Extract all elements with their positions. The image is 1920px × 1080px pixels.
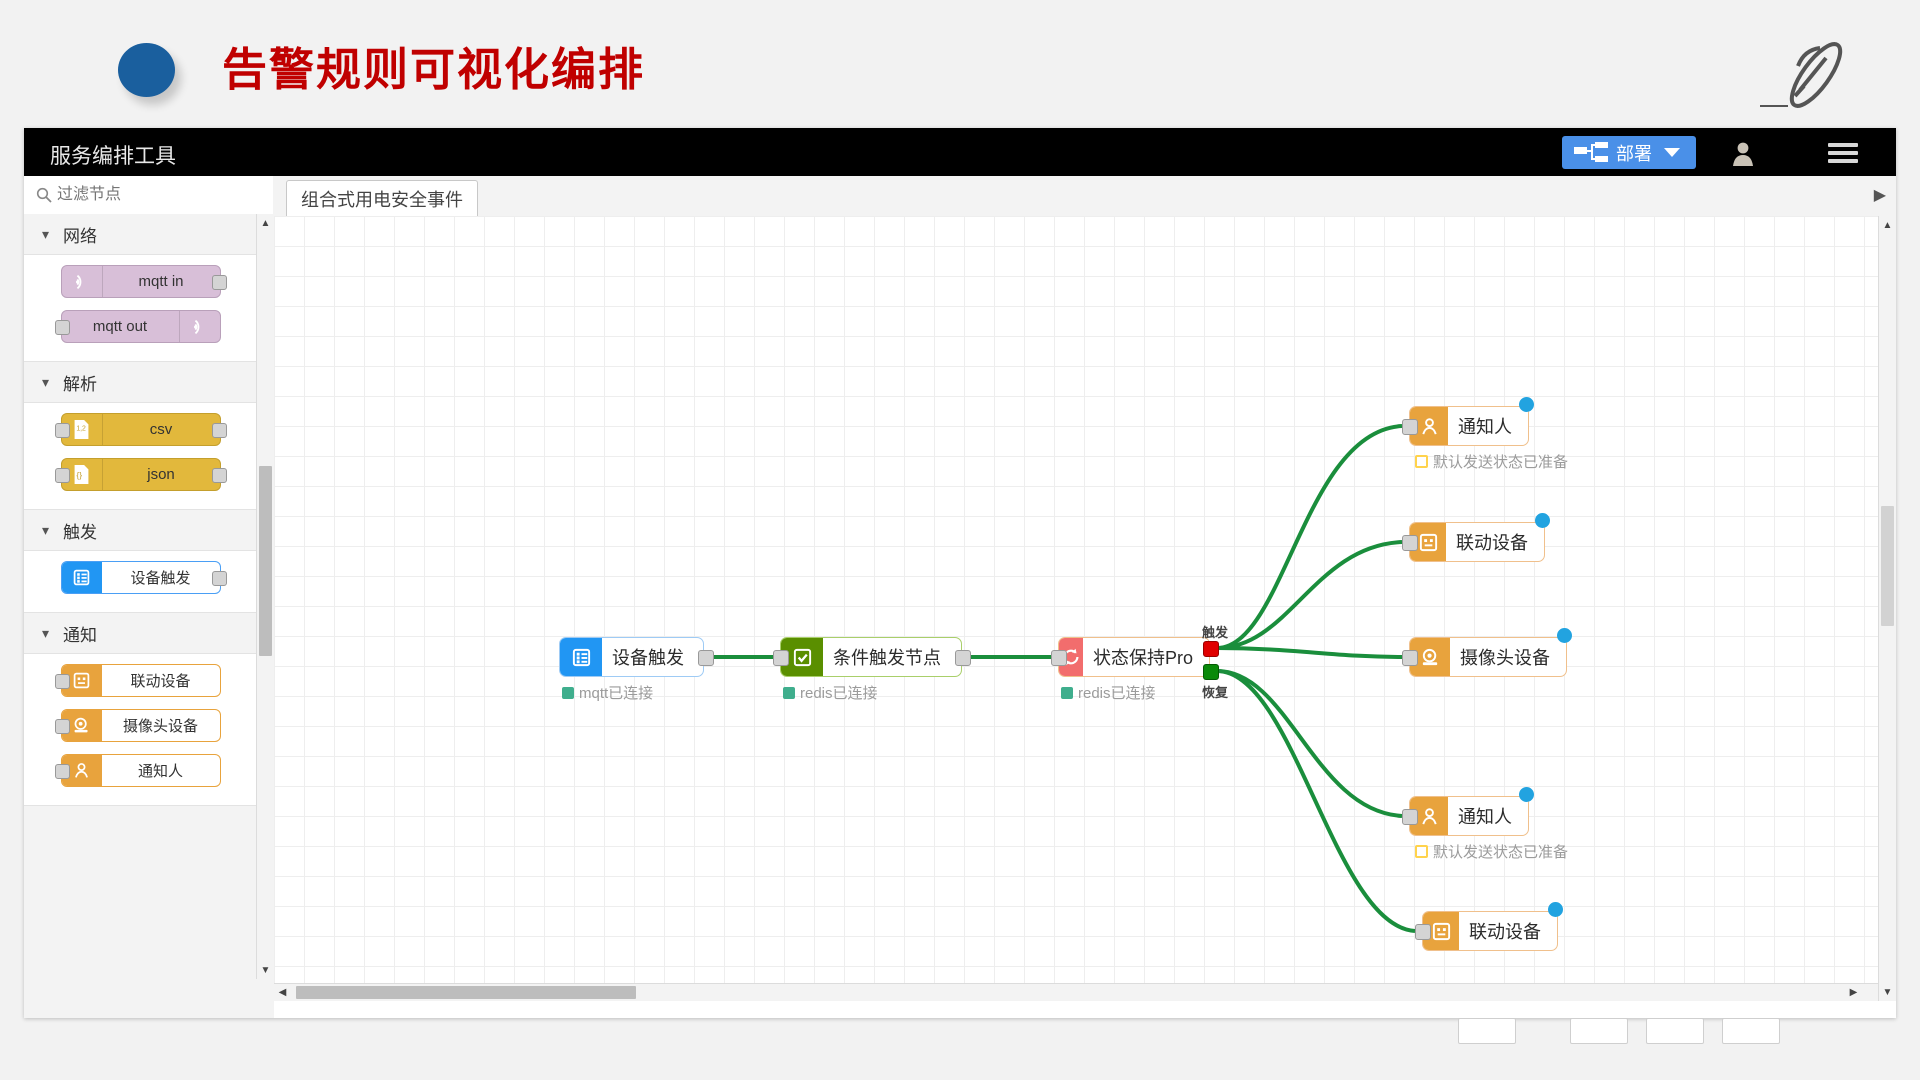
node-status-notify-person-1: 默认发送状态已准备 [1415, 451, 1568, 472]
palette-category-parse[interactable]: ▾ 解析 [24, 362, 257, 402]
palette-sidebar: ▾ 网络 mqtt in mqt [24, 176, 275, 1018]
flow-node-label: 通知人 [1448, 803, 1528, 829]
node-input-port[interactable] [1051, 650, 1067, 666]
status-dot [562, 687, 574, 699]
palette-category-notify-body: 联动设备 摄像头设备 [24, 653, 257, 806]
flow-node-label: 摄像头设备 [1450, 644, 1566, 670]
node-input-port[interactable] [1415, 924, 1431, 940]
workspace: 组合式用电安全事件 ▶ [274, 176, 1896, 1018]
canvas-vertical-scrollbar[interactable]: ▲ ▼ [1878, 216, 1896, 1001]
scroll-up-icon[interactable]: ▲ [1879, 216, 1896, 234]
flow-node-condition-trigger[interactable]: 条件触发节点 [780, 637, 962, 677]
flow-node-state-keeper-pro[interactable]: 状态保持Pro [1058, 637, 1210, 677]
flow-node-notify-person-1[interactable]: 通知人 [1409, 406, 1529, 446]
node-input-port[interactable] [55, 719, 70, 734]
node-status-device-trigger: mqtt已连接 [562, 682, 653, 703]
mqtt-signal-icon [62, 266, 103, 297]
flow-node-label: 状态保持Pro [1083, 644, 1209, 670]
wire-trigger-to-camera [1217, 648, 1402, 657]
palette-node-label: mqtt in [103, 273, 220, 290]
bottom-button[interactable] [1646, 1018, 1704, 1044]
scroll-down-icon[interactable]: ▼ [1879, 983, 1896, 1001]
palette-node-mqtt-in[interactable]: mqtt in [61, 265, 221, 298]
node-input-port[interactable] [1402, 650, 1418, 666]
search-input[interactable] [55, 185, 249, 205]
chevron-down-icon: ▾ [42, 626, 49, 640]
canvas-horizontal-scrollbar[interactable]: ◀ ▶ [274, 983, 1879, 1001]
port-label-trigger: 触发 [1202, 622, 1228, 641]
bullet-dot [118, 43, 175, 97]
node-output-port-trigger[interactable] [1203, 641, 1219, 657]
status-label: 默认发送状态已准备 [1433, 451, 1568, 472]
flow-node-label: 设备触发 [602, 644, 700, 670]
node-output-port-recover[interactable] [1203, 664, 1219, 680]
palette-node-csv[interactable]: 1,2 csv [61, 413, 221, 446]
port-label-recover: 恢复 [1202, 682, 1228, 701]
node-output-port[interactable] [212, 468, 227, 483]
flow-node-linked-device-2[interactable]: 联动设备 [1422, 911, 1558, 951]
svg-text:1,2: 1,2 [76, 425, 86, 432]
chevron-down-icon: ▾ [42, 227, 49, 241]
flow-node-label: 通知人 [1448, 413, 1528, 439]
status-label: redis已连接 [800, 682, 878, 703]
flow-canvas[interactable]: 设备触发 mqtt已连接 条件触发节点 r [274, 216, 1879, 1001]
flow-node-label: 条件触发节点 [823, 644, 957, 670]
app-header: 服务编排工具 部署 [24, 128, 1896, 176]
node-input-port[interactable] [55, 468, 70, 483]
canvas-hscroll-thumb[interactable] [296, 986, 636, 999]
palette-category-parse-body: 1,2 csv {} json [24, 402, 257, 510]
deploy-button[interactable]: 部署 [1562, 136, 1696, 169]
tab-combined-power-safety-event[interactable]: 组合式用电安全事件 [286, 180, 478, 218]
wire-trigger-to-notify1 [1217, 426, 1402, 648]
category-label: 网络 [63, 222, 97, 247]
status-dot [1415, 845, 1428, 858]
node-badge [1519, 787, 1534, 802]
flow-wires [274, 216, 1879, 1001]
node-input-port[interactable] [1402, 809, 1418, 825]
bottom-button-strip [250, 1018, 1920, 1058]
wire-recover-to-notify2 [1217, 671, 1402, 816]
palette-scrollbar[interactable]: ▲ ▼ [256, 214, 274, 979]
palette-node-label: 联动设备 [102, 670, 220, 691]
node-input-port[interactable] [1402, 419, 1418, 435]
flow-node-device-trigger[interactable]: 设备触发 [559, 637, 704, 677]
node-badge [1548, 902, 1563, 917]
tab-label: 组合式用电安全事件 [301, 186, 463, 212]
deploy-flow-icon [1574, 142, 1610, 164]
node-status-notify-person-2: 默认发送状态已准备 [1415, 841, 1568, 862]
flow-node-linked-device-1[interactable]: 联动设备 [1409, 522, 1545, 562]
palette-node-label: 设备触发 [102, 567, 220, 588]
bottom-button[interactable] [1458, 1018, 1516, 1044]
category-label: 触发 [63, 518, 97, 543]
palette-category-network-body: mqtt in mqtt out [24, 254, 257, 362]
node-output-port[interactable] [212, 275, 227, 290]
palette-node-device-trigger[interactable]: 设备触发 [61, 561, 221, 594]
node-input-port[interactable] [55, 320, 70, 335]
search-icon [36, 187, 52, 203]
palette-node-mqtt-out[interactable]: mqtt out [61, 310, 221, 343]
palette-node-linked-device[interactable]: 联动设备 [61, 664, 221, 697]
palette-category-trigger[interactable]: ▾ 触发 [24, 510, 257, 550]
palette-node-json[interactable]: {} json [61, 458, 221, 491]
chevron-down-icon[interactable] [1664, 148, 1680, 157]
palette-node-label: json [103, 466, 220, 483]
node-input-port[interactable] [55, 764, 70, 779]
node-output-port[interactable] [212, 423, 227, 438]
palette-node-camera-device[interactable]: 摄像头设备 [61, 709, 221, 742]
tab-bar: 组合式用电安全事件 ▶ [274, 176, 1896, 217]
node-input-port[interactable] [773, 650, 789, 666]
palette-node-notify-person[interactable]: 通知人 [61, 754, 221, 787]
node-status-condition-trigger: redis已连接 [783, 682, 878, 703]
bottom-button[interactable] [1570, 1018, 1628, 1044]
palette-category-notify[interactable]: ▾ 通知 [24, 613, 257, 653]
wire-recover-to-linked2 [1217, 671, 1415, 931]
status-label: mqtt已连接 [579, 682, 653, 703]
device-list-icon [560, 638, 602, 676]
palette-scrollbar-thumb[interactable] [259, 466, 272, 656]
status-dot [1415, 455, 1428, 468]
palette-node-label: 摄像头设备 [102, 715, 220, 736]
bottom-button[interactable] [1722, 1018, 1780, 1044]
flow-node-camera-device[interactable]: 摄像头设备 [1409, 637, 1567, 677]
node-output-port[interactable] [212, 571, 227, 586]
scroll-down-icon[interactable]: ▼ [257, 961, 274, 979]
flow-node-label: 联动设备 [1459, 918, 1557, 944]
palette-category-network[interactable]: ▾ 网络 [24, 214, 257, 254]
flow-node-label: 联动设备 [1446, 529, 1544, 555]
node-badge [1519, 397, 1534, 412]
node-badge [1557, 628, 1572, 643]
node-output-port[interactable] [955, 650, 971, 666]
scroll-up-icon[interactable]: ▲ [257, 214, 274, 232]
device-list-icon [62, 562, 102, 593]
scroll-right-icon[interactable]: ▶ [1845, 984, 1862, 1001]
canvas-vscroll-thumb[interactable] [1881, 506, 1894, 626]
status-label: 默认发送状态已准备 [1433, 841, 1568, 862]
svg-text:{}: {} [76, 470, 82, 480]
flow-node-notify-person-2[interactable]: 通知人 [1409, 796, 1529, 836]
chevron-right-icon[interactable]: ▶ [1874, 185, 1886, 205]
page-title: 告警规则可视化编排 [222, 33, 645, 98]
node-output-port[interactable] [698, 650, 714, 666]
deploy-label: 部署 [1616, 140, 1652, 166]
palette-node-label: 通知人 [102, 760, 220, 781]
app-title: 服务编排工具 [50, 140, 176, 170]
category-label: 解析 [63, 370, 97, 395]
node-badge [1535, 513, 1550, 528]
chevron-down-icon: ▾ [42, 375, 49, 389]
mqtt-signal-icon [179, 311, 220, 342]
palette-search[interactable] [24, 176, 273, 215]
status-label: redis已连接 [1078, 682, 1156, 703]
palette-category-trigger-body: 设备触发 [24, 550, 257, 613]
category-label: 通知 [63, 621, 97, 646]
chevron-down-icon: ▾ [42, 523, 49, 537]
palette-scroll-area: ▾ 网络 mqtt in mqt [24, 214, 257, 979]
status-dot [783, 687, 795, 699]
node-input-port[interactable] [55, 423, 70, 438]
node-input-port[interactable] [1402, 535, 1418, 551]
user-avatar-icon[interactable] [1730, 140, 1756, 166]
palette-node-label: csv [103, 421, 220, 438]
node-input-port[interactable] [55, 674, 70, 689]
pen-icon [1760, 28, 1856, 114]
palette-node-label: mqtt out [62, 318, 179, 335]
scroll-left-icon[interactable]: ◀ [274, 984, 291, 1001]
node-status-state-keeper: redis已连接 [1061, 682, 1156, 703]
app-window: 服务编排工具 部署 [24, 128, 1896, 1018]
hamburger-menu-icon[interactable] [1828, 143, 1858, 163]
status-dot [1061, 687, 1073, 699]
slide-header: 告警规则可视化编排 [0, 0, 1920, 130]
